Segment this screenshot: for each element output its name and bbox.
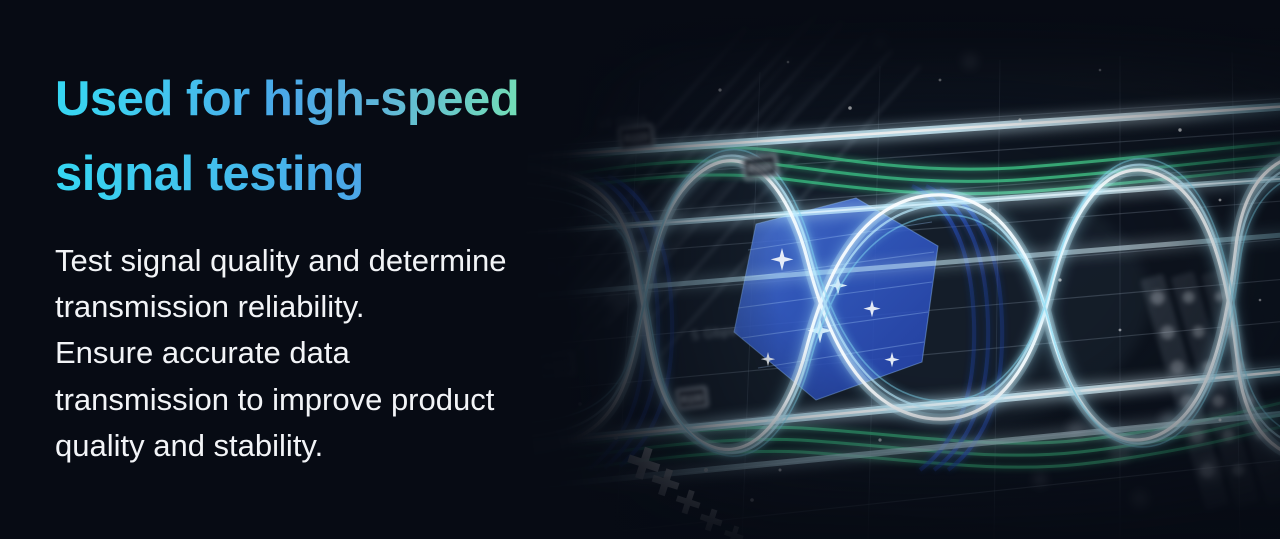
hero-banner: R220 R220 R220 R100	[0, 0, 1280, 539]
copy-block: Used for high-speed signal testing Test …	[55, 62, 655, 469]
description-line-4: transmission to improve product	[55, 377, 655, 423]
headline-line-2: signal testing	[55, 137, 655, 212]
description-text: Test signal quality and determine transm…	[55, 238, 655, 469]
description-line-1: Test signal quality and determine	[55, 238, 655, 284]
headline-line-1: Used for high-speed	[55, 62, 655, 137]
description-line-2: transmission reliability.	[55, 284, 655, 330]
description-line-3: Ensure accurate data	[55, 330, 655, 376]
page-title: Used for high-speed signal testing	[55, 62, 655, 212]
description-line-5: quality and stability.	[55, 423, 655, 469]
